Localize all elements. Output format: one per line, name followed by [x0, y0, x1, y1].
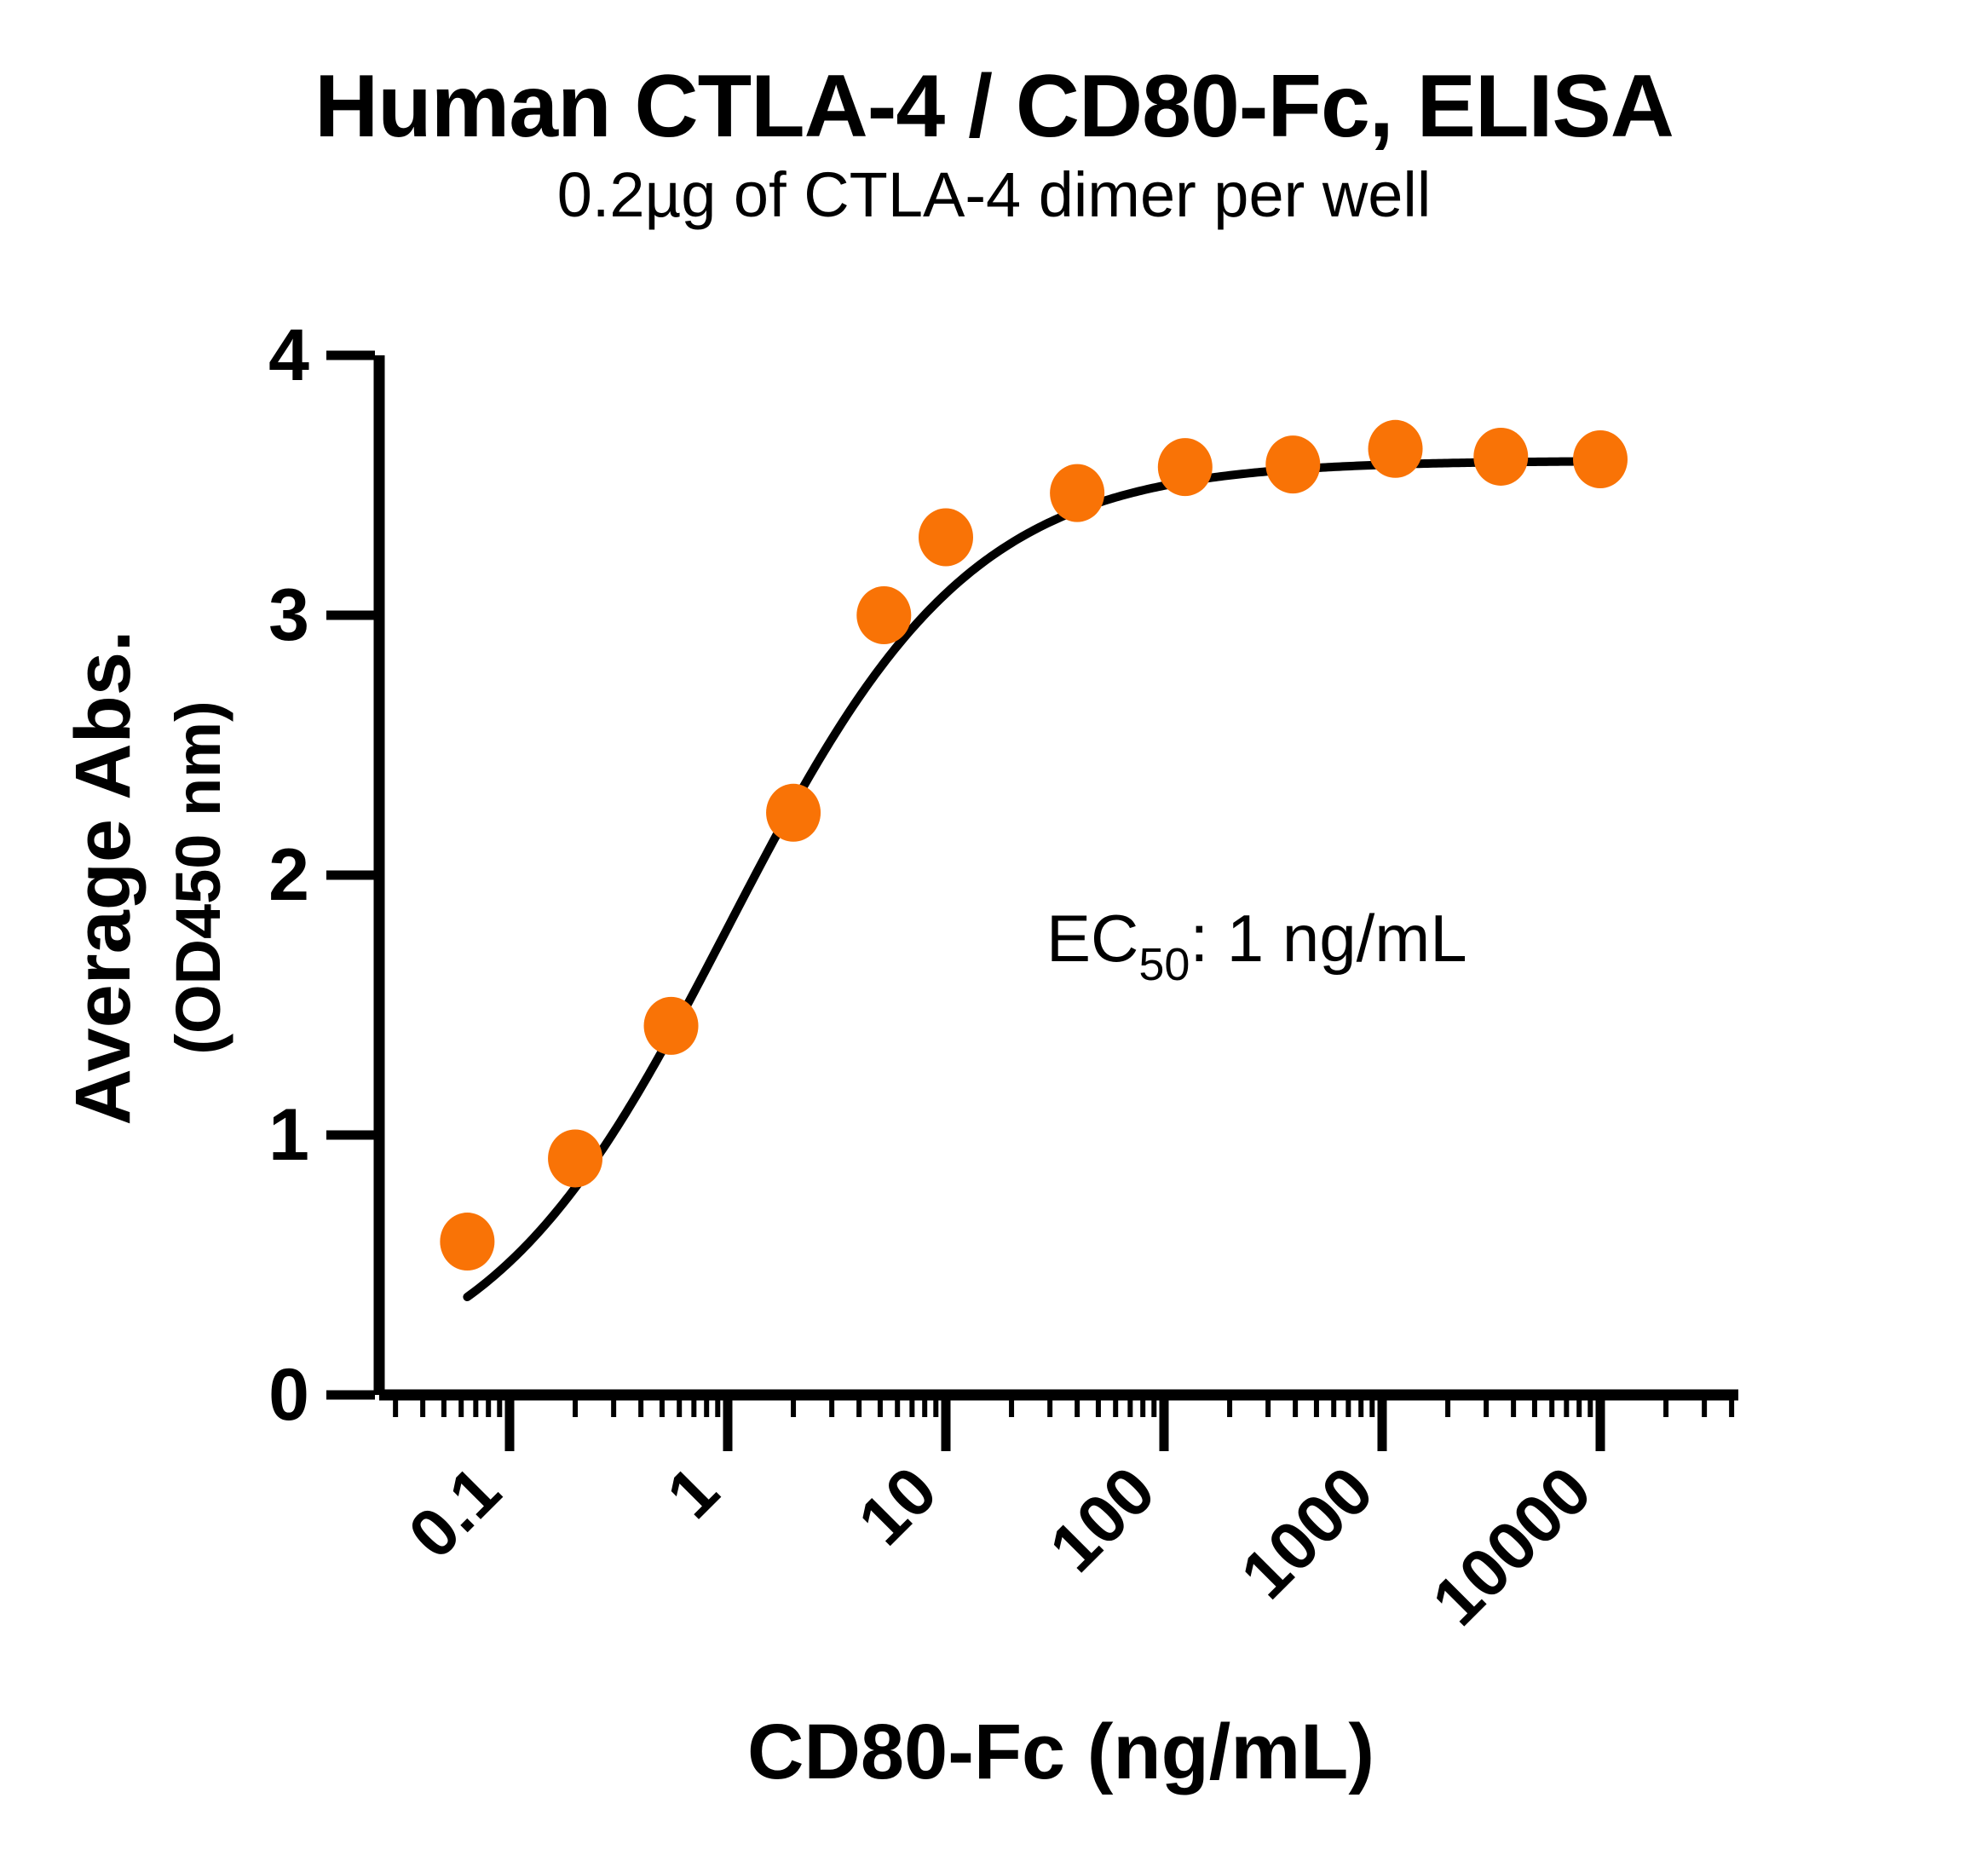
data-point-marker	[856, 586, 911, 644]
fit-curve	[467, 461, 1600, 1297]
data-point-marker	[1573, 430, 1628, 488]
y-axis-tick-label: 1	[268, 1094, 309, 1176]
x-axis-tick-label: 10000	[1418, 1452, 1605, 1639]
data-point-marker	[644, 997, 699, 1055]
x-axis-tick-label: 1	[653, 1452, 733, 1532]
data-point-marker	[440, 1213, 494, 1271]
ec50-suffix: : 1 ng/mL	[1190, 901, 1467, 976]
data-point-marker	[1473, 428, 1528, 486]
data-point-marker	[919, 509, 973, 567]
x-axis-major-ticks	[510, 1400, 1600, 1451]
x-axis-tick-labels: 0.1110100100010000	[394, 1452, 1605, 1639]
data-point-marker	[1050, 464, 1104, 522]
x-axis-title: CD80-Fc (ng/mL)	[747, 1709, 1374, 1795]
data-point-marker	[1158, 438, 1213, 496]
data-point-marker	[548, 1129, 602, 1187]
x-axis-tick-label: 0.1	[394, 1452, 515, 1573]
data-point-marker	[1265, 435, 1320, 493]
ec50-annotation: EC50: 1 ng/mL	[1046, 901, 1467, 990]
data-point-marker	[1369, 420, 1423, 478]
y-axis-tick-labels: 01234	[268, 314, 309, 1436]
y-axis-tick-label: 0	[268, 1354, 309, 1436]
x-axis-tick-label: 1000	[1226, 1452, 1387, 1613]
data-point-markers	[440, 420, 1628, 1271]
chart-figure: Human CTLA-4 / CD80-Fc, ELISA 0.2µg of C…	[0, 0, 1988, 1867]
chart-plot-area: 0.1110100100010000 01234 CD80-Fc (ng/mL)…	[0, 0, 1988, 1867]
x-axis-minor-ticks	[395, 1400, 1732, 1417]
y-axis-title-secondary: (OD450 nm)	[163, 700, 233, 1054]
x-axis-tick-label: 10	[844, 1452, 951, 1559]
ec50-prefix: EC	[1046, 901, 1138, 976]
y-axis-tick-label: 2	[268, 834, 309, 916]
ec50-subscript: 50	[1138, 939, 1190, 990]
y-axis-tick-label: 4	[268, 314, 309, 396]
x-axis-tick-label: 100	[1035, 1452, 1169, 1586]
y-axis-tick-label: 3	[268, 574, 309, 656]
y-axis-major-ticks	[326, 355, 375, 1395]
data-point-marker	[766, 784, 821, 842]
y-axis-title-primary: Average Abs.	[60, 630, 147, 1125]
